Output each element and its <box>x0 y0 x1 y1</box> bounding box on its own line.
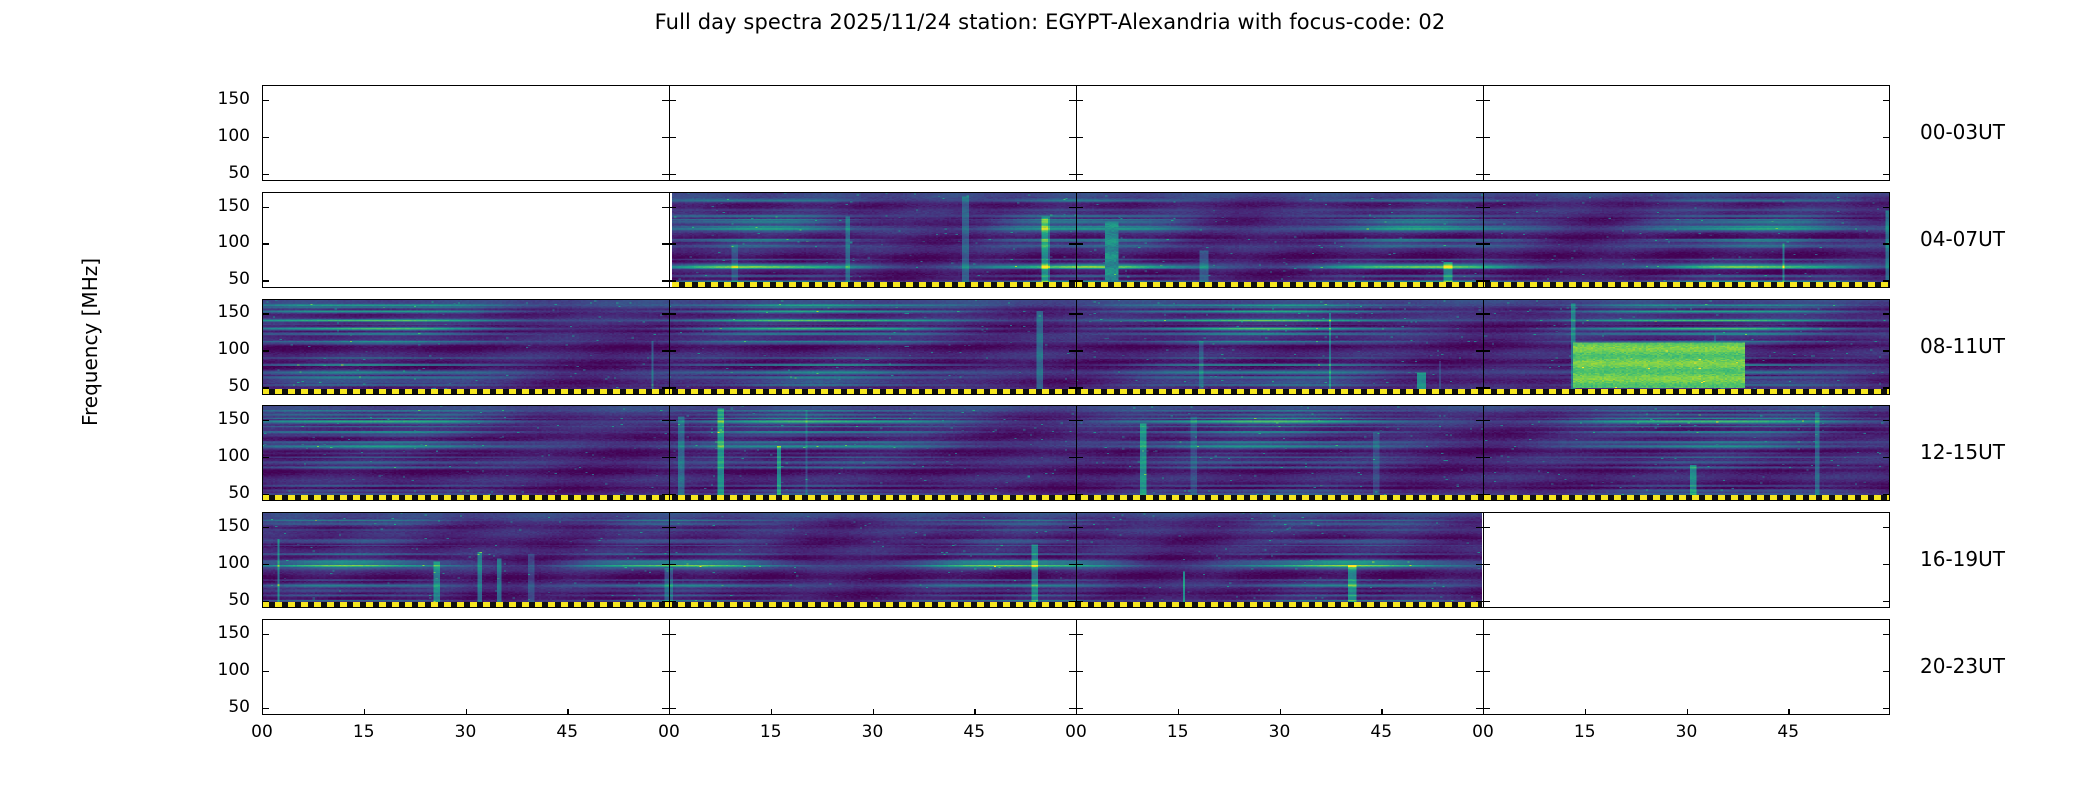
y-tick-mark <box>662 708 669 709</box>
y-tick-mark <box>262 313 269 314</box>
x-tick-label: 00 <box>237 722 287 742</box>
y-tick-mark <box>262 243 269 244</box>
y-tick-mark <box>662 634 669 635</box>
x-tick-label: 45 <box>949 722 999 742</box>
y-tick-mark <box>262 420 269 421</box>
y-tick-mark <box>1076 601 1083 602</box>
y-tick-mark <box>1476 280 1483 281</box>
y-tick-mark <box>1069 243 1076 244</box>
y-tick-mark <box>262 137 269 138</box>
x-tick-label: 00 <box>644 722 694 742</box>
y-tick-label: 100 <box>180 660 250 680</box>
y-tick-mark <box>1883 174 1890 175</box>
y-tick-label: 100 <box>180 446 250 466</box>
y-tick-mark <box>1483 313 1490 314</box>
spectrogram-image <box>672 192 1890 288</box>
y-tick-mark <box>1883 564 1890 565</box>
y-tick-mark <box>262 350 269 351</box>
y-tick-mark <box>1069 137 1076 138</box>
y-tick-mark <box>1883 100 1890 101</box>
y-tick-mark <box>662 457 669 458</box>
y-tick-mark <box>669 137 676 138</box>
y-tick-mark <box>1076 420 1083 421</box>
y-tick-mark <box>1476 100 1483 101</box>
y-tick-mark <box>1069 708 1076 709</box>
y-tick-mark <box>1476 634 1483 635</box>
x-tick-label: 00 <box>1051 722 1101 742</box>
y-tick-mark <box>669 350 676 351</box>
y-tick-label: 150 <box>180 516 250 536</box>
y-tick-mark <box>1483 564 1490 565</box>
y-tick-mark <box>1069 671 1076 672</box>
x-tick-mark <box>1178 709 1179 715</box>
x-tick-mark <box>1483 709 1484 715</box>
y-tick-mark <box>1076 280 1083 281</box>
y-tick-mark <box>1476 564 1483 565</box>
y-tick-mark <box>1076 350 1083 351</box>
x-tick-label: 30 <box>1662 722 1712 742</box>
x-tick-label: 30 <box>441 722 491 742</box>
y-tick-mark <box>1476 243 1483 244</box>
y-tick-mark <box>669 601 676 602</box>
row-time-label: 16-19UT <box>1920 547 2005 571</box>
y-tick-mark <box>669 564 676 565</box>
x-tick-mark <box>1280 709 1281 715</box>
y-tick-label: 50 <box>180 590 250 610</box>
x-tick-mark <box>1788 709 1789 715</box>
spectrogram-row-12-15ut[interactable] <box>262 405 1890 501</box>
y-tick-mark <box>662 313 669 314</box>
y-tick-mark <box>1476 457 1483 458</box>
x-tick-label: 15 <box>746 722 796 742</box>
y-axis-label: Frequency [MHz] <box>78 192 102 492</box>
y-tick-mark <box>1883 527 1890 528</box>
y-tick-mark <box>262 601 269 602</box>
y-tick-label: 100 <box>180 339 250 359</box>
y-tick-label: 100 <box>180 553 250 573</box>
y-tick-mark <box>1069 313 1076 314</box>
y-tick-mark <box>1476 207 1483 208</box>
y-tick-mark <box>662 207 669 208</box>
x-tick-mark <box>974 709 975 715</box>
y-tick-mark <box>1076 100 1083 101</box>
y-tick-mark <box>1483 137 1490 138</box>
y-tick-mark <box>1476 494 1483 495</box>
spectrogram-row-00-03ut[interactable] <box>262 85 1890 181</box>
y-tick-mark <box>1069 564 1076 565</box>
y-tick-mark <box>262 100 269 101</box>
y-tick-mark <box>1476 601 1483 602</box>
y-tick-mark <box>1076 313 1083 314</box>
y-tick-mark <box>669 280 676 281</box>
y-tick-mark <box>1476 313 1483 314</box>
y-tick-mark <box>1476 387 1483 388</box>
y-tick-mark <box>1069 387 1076 388</box>
y-tick-mark <box>1076 634 1083 635</box>
y-tick-mark <box>662 280 669 281</box>
y-tick-mark <box>1883 708 1890 709</box>
row-time-label: 08-11UT <box>1920 334 2005 358</box>
y-tick-mark <box>1069 634 1076 635</box>
y-tick-mark <box>262 207 269 208</box>
y-tick-mark <box>1069 494 1076 495</box>
y-tick-mark <box>1883 350 1890 351</box>
x-tick-mark <box>1076 709 1077 715</box>
y-tick-mark <box>262 671 269 672</box>
spectrogram-row-04-07ut[interactable] <box>262 192 1890 288</box>
row-time-label: 20-23UT <box>1920 654 2005 678</box>
y-tick-mark <box>1069 420 1076 421</box>
x-tick-label: 30 <box>1255 722 1305 742</box>
y-tick-mark <box>1069 527 1076 528</box>
y-tick-mark <box>1483 634 1490 635</box>
y-tick-mark <box>662 350 669 351</box>
y-tick-mark <box>1483 100 1490 101</box>
y-tick-mark <box>662 137 669 138</box>
y-tick-mark <box>1476 420 1483 421</box>
y-tick-mark <box>1883 207 1890 208</box>
y-tick-mark <box>1483 601 1490 602</box>
y-tick-mark <box>262 634 269 635</box>
y-tick-label: 50 <box>180 163 250 183</box>
spectrogram-row-16-19ut[interactable] <box>262 512 1890 608</box>
spectra-figure: Full day spectra 2025/11/24 station: EGY… <box>0 0 2100 800</box>
y-tick-mark <box>1883 137 1890 138</box>
y-tick-mark <box>669 387 676 388</box>
y-tick-mark <box>1883 420 1890 421</box>
y-tick-mark <box>1883 457 1890 458</box>
plot-area <box>262 85 1890 715</box>
y-tick-mark <box>262 457 269 458</box>
y-tick-label: 50 <box>180 376 250 396</box>
y-tick-mark <box>1883 671 1890 672</box>
y-tick-mark <box>1883 387 1890 388</box>
y-tick-mark <box>1476 350 1483 351</box>
x-tick-label: 15 <box>1560 722 1610 742</box>
y-tick-mark <box>1483 280 1490 281</box>
y-tick-mark <box>662 100 669 101</box>
y-tick-mark <box>669 174 676 175</box>
x-tick-label: 45 <box>1356 722 1406 742</box>
y-tick-mark <box>1476 708 1483 709</box>
y-tick-mark <box>1069 601 1076 602</box>
y-tick-label: 150 <box>180 89 250 109</box>
y-tick-mark <box>1483 494 1490 495</box>
y-tick-mark <box>662 601 669 602</box>
y-tick-mark <box>1076 457 1083 458</box>
y-tick-mark <box>1076 564 1083 565</box>
y-tick-mark <box>669 634 676 635</box>
y-tick-mark <box>669 671 676 672</box>
y-tick-mark <box>1476 527 1483 528</box>
x-tick-label: 30 <box>848 722 898 742</box>
x-tick-mark <box>364 709 365 715</box>
row-time-label: 04-07UT <box>1920 227 2005 251</box>
y-tick-mark <box>1483 387 1490 388</box>
y-tick-label: 150 <box>180 409 250 429</box>
y-tick-mark <box>662 494 669 495</box>
y-tick-mark <box>1069 350 1076 351</box>
x-tick-label: 15 <box>1153 722 1203 742</box>
y-tick-mark <box>1483 671 1490 672</box>
y-tick-mark <box>1076 137 1083 138</box>
y-tick-mark <box>1483 420 1490 421</box>
y-tick-mark <box>1069 174 1076 175</box>
y-tick-mark <box>1883 280 1890 281</box>
x-tick-mark <box>669 709 670 715</box>
y-tick-label: 150 <box>180 196 250 216</box>
y-tick-label: 150 <box>180 623 250 643</box>
y-tick-label: 50 <box>180 697 250 717</box>
y-tick-mark <box>669 527 676 528</box>
y-tick-mark <box>1483 243 1490 244</box>
y-tick-mark <box>1076 527 1083 528</box>
y-tick-mark <box>262 564 269 565</box>
x-tick-label: 45 <box>1763 722 1813 742</box>
y-tick-mark <box>1883 243 1890 244</box>
y-tick-mark <box>669 207 676 208</box>
y-tick-mark <box>662 174 669 175</box>
x-tick-mark <box>1381 709 1382 715</box>
y-tick-mark <box>1069 207 1076 208</box>
row-time-label: 12-15UT <box>1920 440 2005 464</box>
y-tick-mark <box>669 100 676 101</box>
y-tick-label: 50 <box>180 269 250 289</box>
y-tick-mark <box>662 243 669 244</box>
y-tick-mark <box>662 527 669 528</box>
y-tick-mark <box>1069 100 1076 101</box>
y-tick-mark <box>1476 174 1483 175</box>
y-tick-mark <box>1076 207 1083 208</box>
page-title: Full day spectra 2025/11/24 station: EGY… <box>0 10 2100 34</box>
y-tick-mark <box>1883 313 1890 314</box>
y-tick-mark <box>1076 494 1083 495</box>
x-tick-label: 15 <box>339 722 389 742</box>
y-tick-mark <box>262 494 269 495</box>
x-tick-mark <box>466 709 467 715</box>
row-time-label: 00-03UT <box>1920 120 2005 144</box>
x-tick-mark <box>567 709 568 715</box>
spectrogram-row-20-23ut[interactable] <box>262 619 1890 715</box>
spectrogram-image <box>262 512 1482 608</box>
y-tick-mark <box>662 564 669 565</box>
y-tick-mark <box>1069 280 1076 281</box>
y-tick-label: 50 <box>180 483 250 503</box>
y-tick-mark <box>1076 243 1083 244</box>
y-tick-mark <box>662 387 669 388</box>
y-tick-mark <box>662 420 669 421</box>
y-tick-label: 150 <box>180 302 250 322</box>
y-tick-mark <box>1483 350 1490 351</box>
y-tick-mark <box>669 313 676 314</box>
y-tick-mark <box>1076 387 1083 388</box>
y-tick-mark <box>1483 174 1490 175</box>
x-tick-mark <box>873 709 874 715</box>
y-tick-mark <box>1483 207 1490 208</box>
y-tick-mark <box>1883 634 1890 635</box>
y-tick-mark <box>1476 671 1483 672</box>
y-tick-mark <box>669 420 676 421</box>
y-tick-mark <box>669 243 676 244</box>
y-tick-mark <box>669 457 676 458</box>
y-tick-mark <box>262 387 269 388</box>
y-tick-mark <box>1076 174 1083 175</box>
spectrogram-row-08-11ut[interactable] <box>262 299 1890 395</box>
data-marker-strip <box>672 282 1890 288</box>
y-tick-mark <box>662 671 669 672</box>
x-tick-mark <box>1585 709 1586 715</box>
y-tick-label: 100 <box>180 232 250 252</box>
y-tick-mark <box>1883 494 1890 495</box>
y-tick-mark <box>669 494 676 495</box>
x-tick-mark <box>771 709 772 715</box>
x-tick-label: 00 <box>1458 722 1508 742</box>
data-marker-strip <box>262 602 1482 608</box>
x-tick-mark <box>262 709 263 715</box>
x-tick-mark <box>1687 709 1688 715</box>
x-tick-label: 45 <box>542 722 592 742</box>
y-tick-mark <box>1476 137 1483 138</box>
y-tick-mark <box>262 174 269 175</box>
y-tick-label: 100 <box>180 126 250 146</box>
y-tick-mark <box>1076 671 1083 672</box>
y-tick-mark <box>1483 457 1490 458</box>
y-tick-mark <box>1069 457 1076 458</box>
y-tick-mark <box>1483 527 1490 528</box>
y-tick-mark <box>262 527 269 528</box>
y-tick-mark <box>1883 601 1890 602</box>
y-tick-mark <box>262 280 269 281</box>
